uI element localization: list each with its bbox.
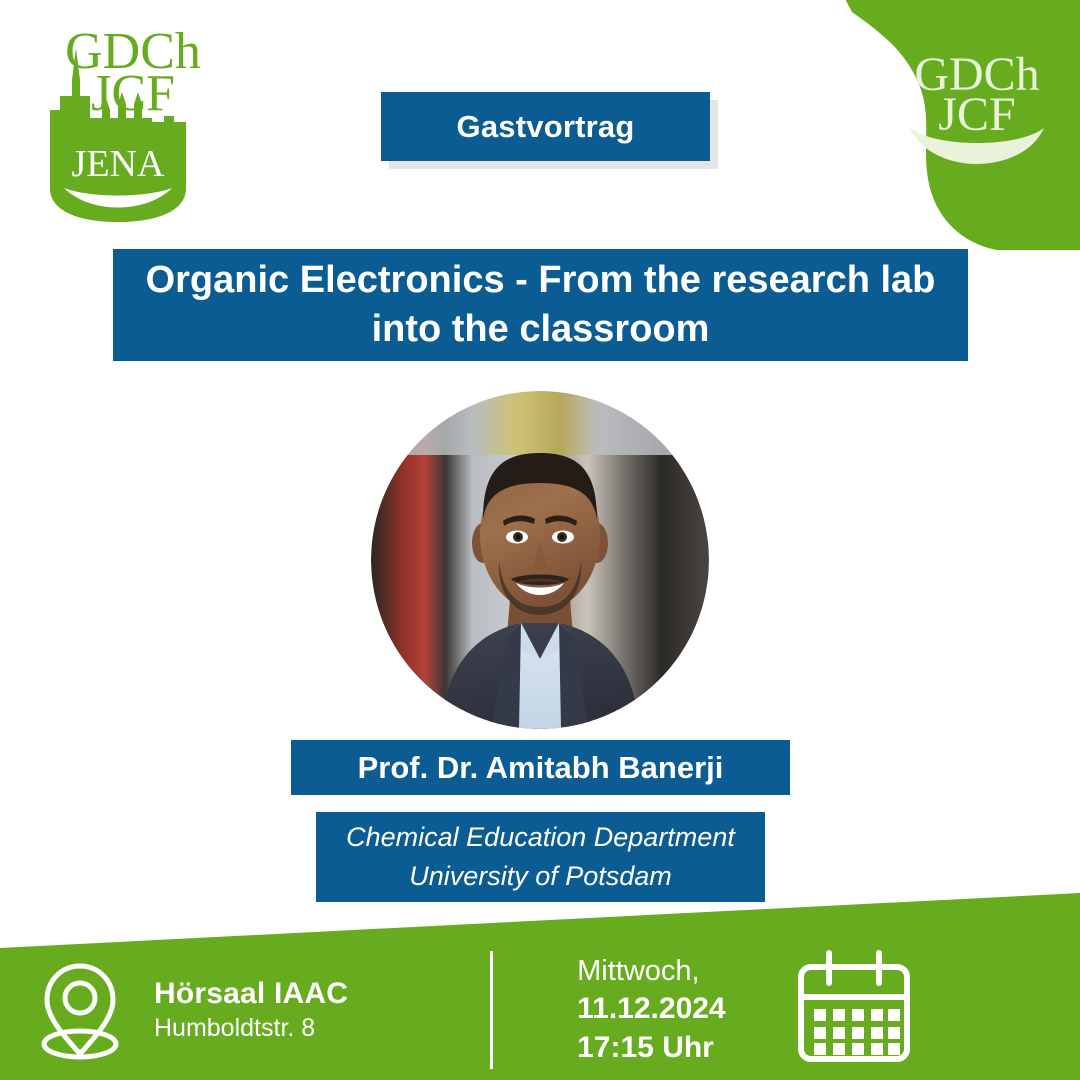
calendar-icon: [792, 949, 916, 1067]
speaker-name: Prof. Dr. Amitabh Banerji: [358, 750, 724, 786]
speaker-name-banner: Prof. Dr. Amitabh Banerji: [291, 740, 790, 795]
date-time: 17:15 Uhr: [577, 1029, 726, 1067]
venue-block: Hörsaal IAAC Humboldtstr. 8: [34, 958, 348, 1062]
gdch-jcf-logo-mark: GDCh JCF: [902, 44, 1052, 194]
date-weekday: Mittwoch,: [577, 953, 726, 990]
date-block: Mittwoch, 11.12.2024 17:15 Uhr: [577, 953, 726, 1067]
venue-street: Humboldtstr. 8: [154, 1013, 348, 1044]
gdch-jcf-logo: GDCh JCF: [902, 44, 1052, 194]
venue-text: Hörsaal IAAC Humboldtstr. 8: [154, 976, 348, 1043]
affiliation-line1: Chemical Education Department: [346, 818, 735, 857]
date-value: 11.12.2024: [577, 990, 726, 1028]
calendar-icon-wrap: [792, 949, 916, 1072]
location-pin-icon: [34, 958, 126, 1062]
footer-divider: [490, 951, 493, 1069]
gastvortrag-badge: Gastvortrag: [381, 92, 710, 161]
gastvortrag-label: Gastvortrag: [457, 109, 635, 145]
talk-title-line2: the classroom: [452, 308, 710, 350]
jena-logo-city: JENA: [72, 143, 165, 185]
venue-name: Hörsaal IAAC: [154, 976, 348, 1013]
event-poster: GDCh JCF GDCh JCF JENA Gastvortrag Organ…: [0, 0, 1080, 1080]
portrait-image: [371, 391, 709, 729]
jcf-jena-logo-mark: GDCh JCF JENA: [28, 18, 238, 224]
gdch-jcf-logo-line2: JCF: [938, 88, 1015, 141]
talk-title-banner: Organic Electronics - From the research …: [113, 249, 968, 361]
footer-content: Hörsaal IAAC Humboldtstr. 8 Mittwoch, 11…: [0, 940, 1080, 1080]
jcf-jena-logo: GDCh JCF JENA: [28, 18, 238, 224]
speaker-portrait: [371, 391, 709, 729]
